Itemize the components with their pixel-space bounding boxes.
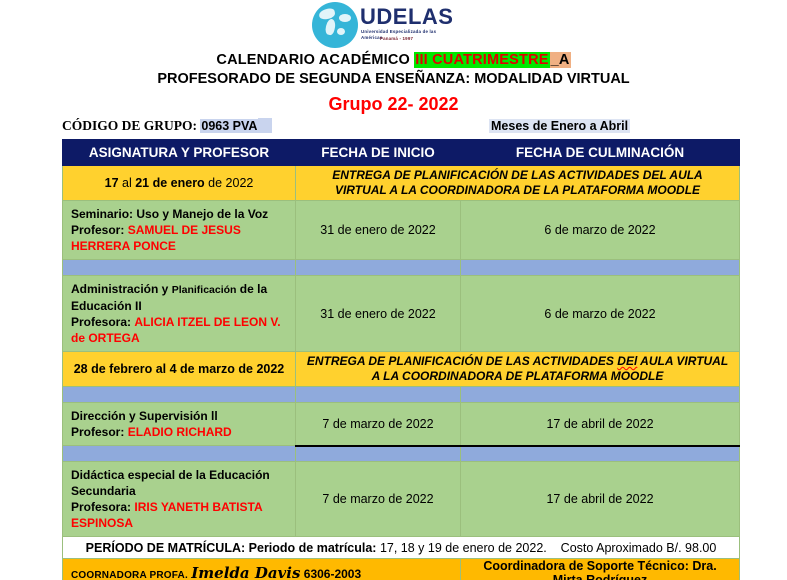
course-2-subject: Administración y Planificación de la Edu…	[63, 276, 296, 352]
page-title-highlight: III CUATRIMESTRE	[414, 52, 549, 68]
course-2-end: 6 de marzo de 2022	[461, 276, 740, 352]
logo-subtitle-secondary: Panamá - 1997	[380, 36, 413, 41]
course-3-title: Dirección y Supervisión ll	[71, 409, 218, 423]
course-3-teacher: ELADIO RICHARD	[128, 425, 232, 439]
enrollment-label-2: Periodo de matrícula:	[249, 541, 377, 555]
group-code: CÓDIGO DE GRUPO: 0963 PVA	[62, 118, 272, 134]
notice-2-message-line2: A LA COORDINADORA DE PLATAFORMA MOODLE	[302, 369, 733, 384]
spacer-1-cell-1	[63, 260, 296, 276]
notice-2-message-line1: ENTREGA DE PLANIFICACIÓN DE LAS ACTIVIDA…	[302, 354, 733, 369]
enrollment-label-1: PERÍODO DE MATRÍCULA:	[86, 541, 246, 555]
course-2-title-small: Planificación	[172, 284, 237, 296]
notice-2-message: ENTREGA DE PLANIFICACIÓN DE LAS ACTIVIDA…	[296, 352, 740, 387]
schedule-table: ASIGNATURA Y PROFESOR FECHA DE INICIO FE…	[62, 139, 740, 580]
notice-1-message-line2: VIRTUAL A LA COORDINADORA DE LA PLATAFOR…	[302, 183, 733, 198]
globe-icon	[312, 2, 358, 48]
course-2-role: Profesora:	[71, 315, 131, 329]
enrollment-dates: 17, 18 y 19 de enero de 2022.	[380, 541, 547, 555]
course-4-role: Profesora:	[71, 500, 131, 514]
course-4-start: 7 de marzo de 2022	[296, 462, 461, 537]
column-header-end: FECHA DE CULMINACIÓN	[461, 140, 740, 166]
course-row-1: Seminario: Uso y Manejo de la Voz Profes…	[63, 201, 740, 260]
notice-1-dates: 17 al 21 de enero de 2022	[63, 166, 296, 201]
table-header-row: ASIGNATURA Y PROFESOR FECHA DE INICIO FE…	[63, 140, 740, 166]
notice-2-msg-b: AULA VIRTUAL	[637, 354, 728, 368]
course-1-role: Profesor:	[71, 223, 124, 237]
months-range: Meses de Enero a Abril	[489, 119, 630, 133]
notice-row-2: 28 de febrero al 4 de marzo de 2022 ENTR…	[63, 352, 740, 387]
course-row-3: Dirección y Supervisión ll Profesor: ELA…	[63, 403, 740, 446]
course-1-title: Seminario: Uso y Manejo de la Voz	[71, 207, 268, 221]
notice-1-date-thin-2: de 2022	[205, 176, 254, 190]
course-1-end: 6 de marzo de 2022	[461, 201, 740, 260]
group-line: Grupo 22- 2022	[0, 94, 787, 115]
course-3-role: Profesor:	[71, 425, 124, 439]
course-4-end: 17 de abril de 2022	[461, 462, 740, 537]
notice-1-date-thin-1: al	[119, 176, 136, 190]
footer-row: COORNADORA PROFA. Imelda Davis 6306-2003…	[63, 559, 740, 580]
group-code-label: CÓDIGO DE GRUPO:	[62, 118, 197, 133]
notice-2-dates: 28 de febrero al 4 de marzo de 2022	[63, 352, 296, 387]
group-code-value: 0963 PVA	[200, 119, 258, 133]
footer-coordinator-label: COORNADORA PROFA.	[71, 570, 188, 580]
course-1-subject: Seminario: Uso y Manejo de la Voz Profes…	[63, 201, 296, 260]
course-3-subject: Dirección y Supervisión ll Profesor: ELA…	[63, 403, 296, 446]
notice-2-msg-misspell: DEl	[617, 354, 637, 368]
course-3-start: 7 de marzo de 2022	[296, 403, 461, 446]
spacer-2-cell-1	[63, 387, 296, 403]
course-1-start: 31 de enero de 2022	[296, 201, 461, 260]
footer-coordinator-name: Imelda Davis	[191, 564, 300, 580]
course-row-2: Administración y Planificación de la Edu…	[63, 276, 740, 352]
course-3-end: 17 de abril de 2022	[461, 403, 740, 446]
enrollment-row: PERÍODO DE MATRÍCULA: Periodo de matrícu…	[63, 537, 740, 559]
column-header-subject: ASIGNATURA Y PROFESOR	[63, 140, 296, 166]
page-subtitle: PROFESORADO DE SEGUNDA ENSEÑANZA: MODALI…	[0, 71, 787, 87]
column-header-start: FECHA DE INICIO	[296, 140, 461, 166]
notice-1-message: ENTREGA DE PLANIFICACIÓN DE LAS ACTIVIDA…	[296, 166, 740, 201]
course-4-title: Didáctica especial de la Educación Secun…	[71, 468, 270, 498]
notice-1-date-bold-2: 21 de enero	[135, 176, 204, 190]
course-2-start: 31 de enero de 2022	[296, 276, 461, 352]
footer-coordinator-phone: 6306-2003	[304, 567, 361, 580]
notice-1-message-line1: ENTREGA DE PLANIFICACIÓN DE LAS ACTIVIDA…	[302, 168, 733, 183]
spacer-2-cell-3	[461, 387, 740, 403]
spacer-1-cell-3	[461, 260, 740, 276]
logo-wordmark: UDELAS	[360, 6, 453, 28]
footer-coordinator: COORNADORA PROFA. Imelda Davis 6306-2003	[63, 559, 461, 580]
spacer-row-3	[63, 446, 740, 462]
calendar-document: UDELAS Universidad Especializada de las …	[0, 0, 787, 580]
udelas-logo: UDELAS Universidad Especializada de las …	[312, 2, 452, 48]
footer-support: Coordinadora de Soporte Técnico: Dra. Mi…	[461, 559, 740, 580]
course-row-4: Didáctica especial de la Educación Secun…	[63, 462, 740, 537]
course-4-subject: Didáctica especial de la Educación Secun…	[63, 462, 296, 537]
spacer-2-cell-2	[296, 387, 461, 403]
spacer-3-cell-3	[461, 446, 740, 462]
page-title-suffix: _A	[550, 52, 571, 68]
page-title: CALENDARIO ACADÉMICO III CUATRIMESTRE_A	[0, 52, 787, 68]
enrollment-cost: Costo Aproximado B/. 98.00	[561, 541, 717, 555]
enrollment-cell: PERÍODO DE MATRÍCULA: Periodo de matrícu…	[63, 537, 740, 559]
notice-1-date-bold-1: 17	[105, 176, 119, 190]
spacer-1-cell-2	[296, 260, 461, 276]
spacer-3-cell-1	[63, 446, 296, 462]
spacer-row-2	[63, 387, 740, 403]
notice-row-1: 17 al 21 de enero de 2022 ENTREGA DE PLA…	[63, 166, 740, 201]
page-title-prefix: CALENDARIO ACADÉMICO	[216, 52, 414, 68]
spacer-row-1	[63, 260, 740, 276]
notice-2-msg-a: ENTREGA DE PLANIFICACIÓN DE LAS ACTIVIDA…	[307, 354, 617, 368]
course-2-title: Administración y	[71, 282, 172, 296]
spacer-3-cell-2	[296, 446, 461, 462]
